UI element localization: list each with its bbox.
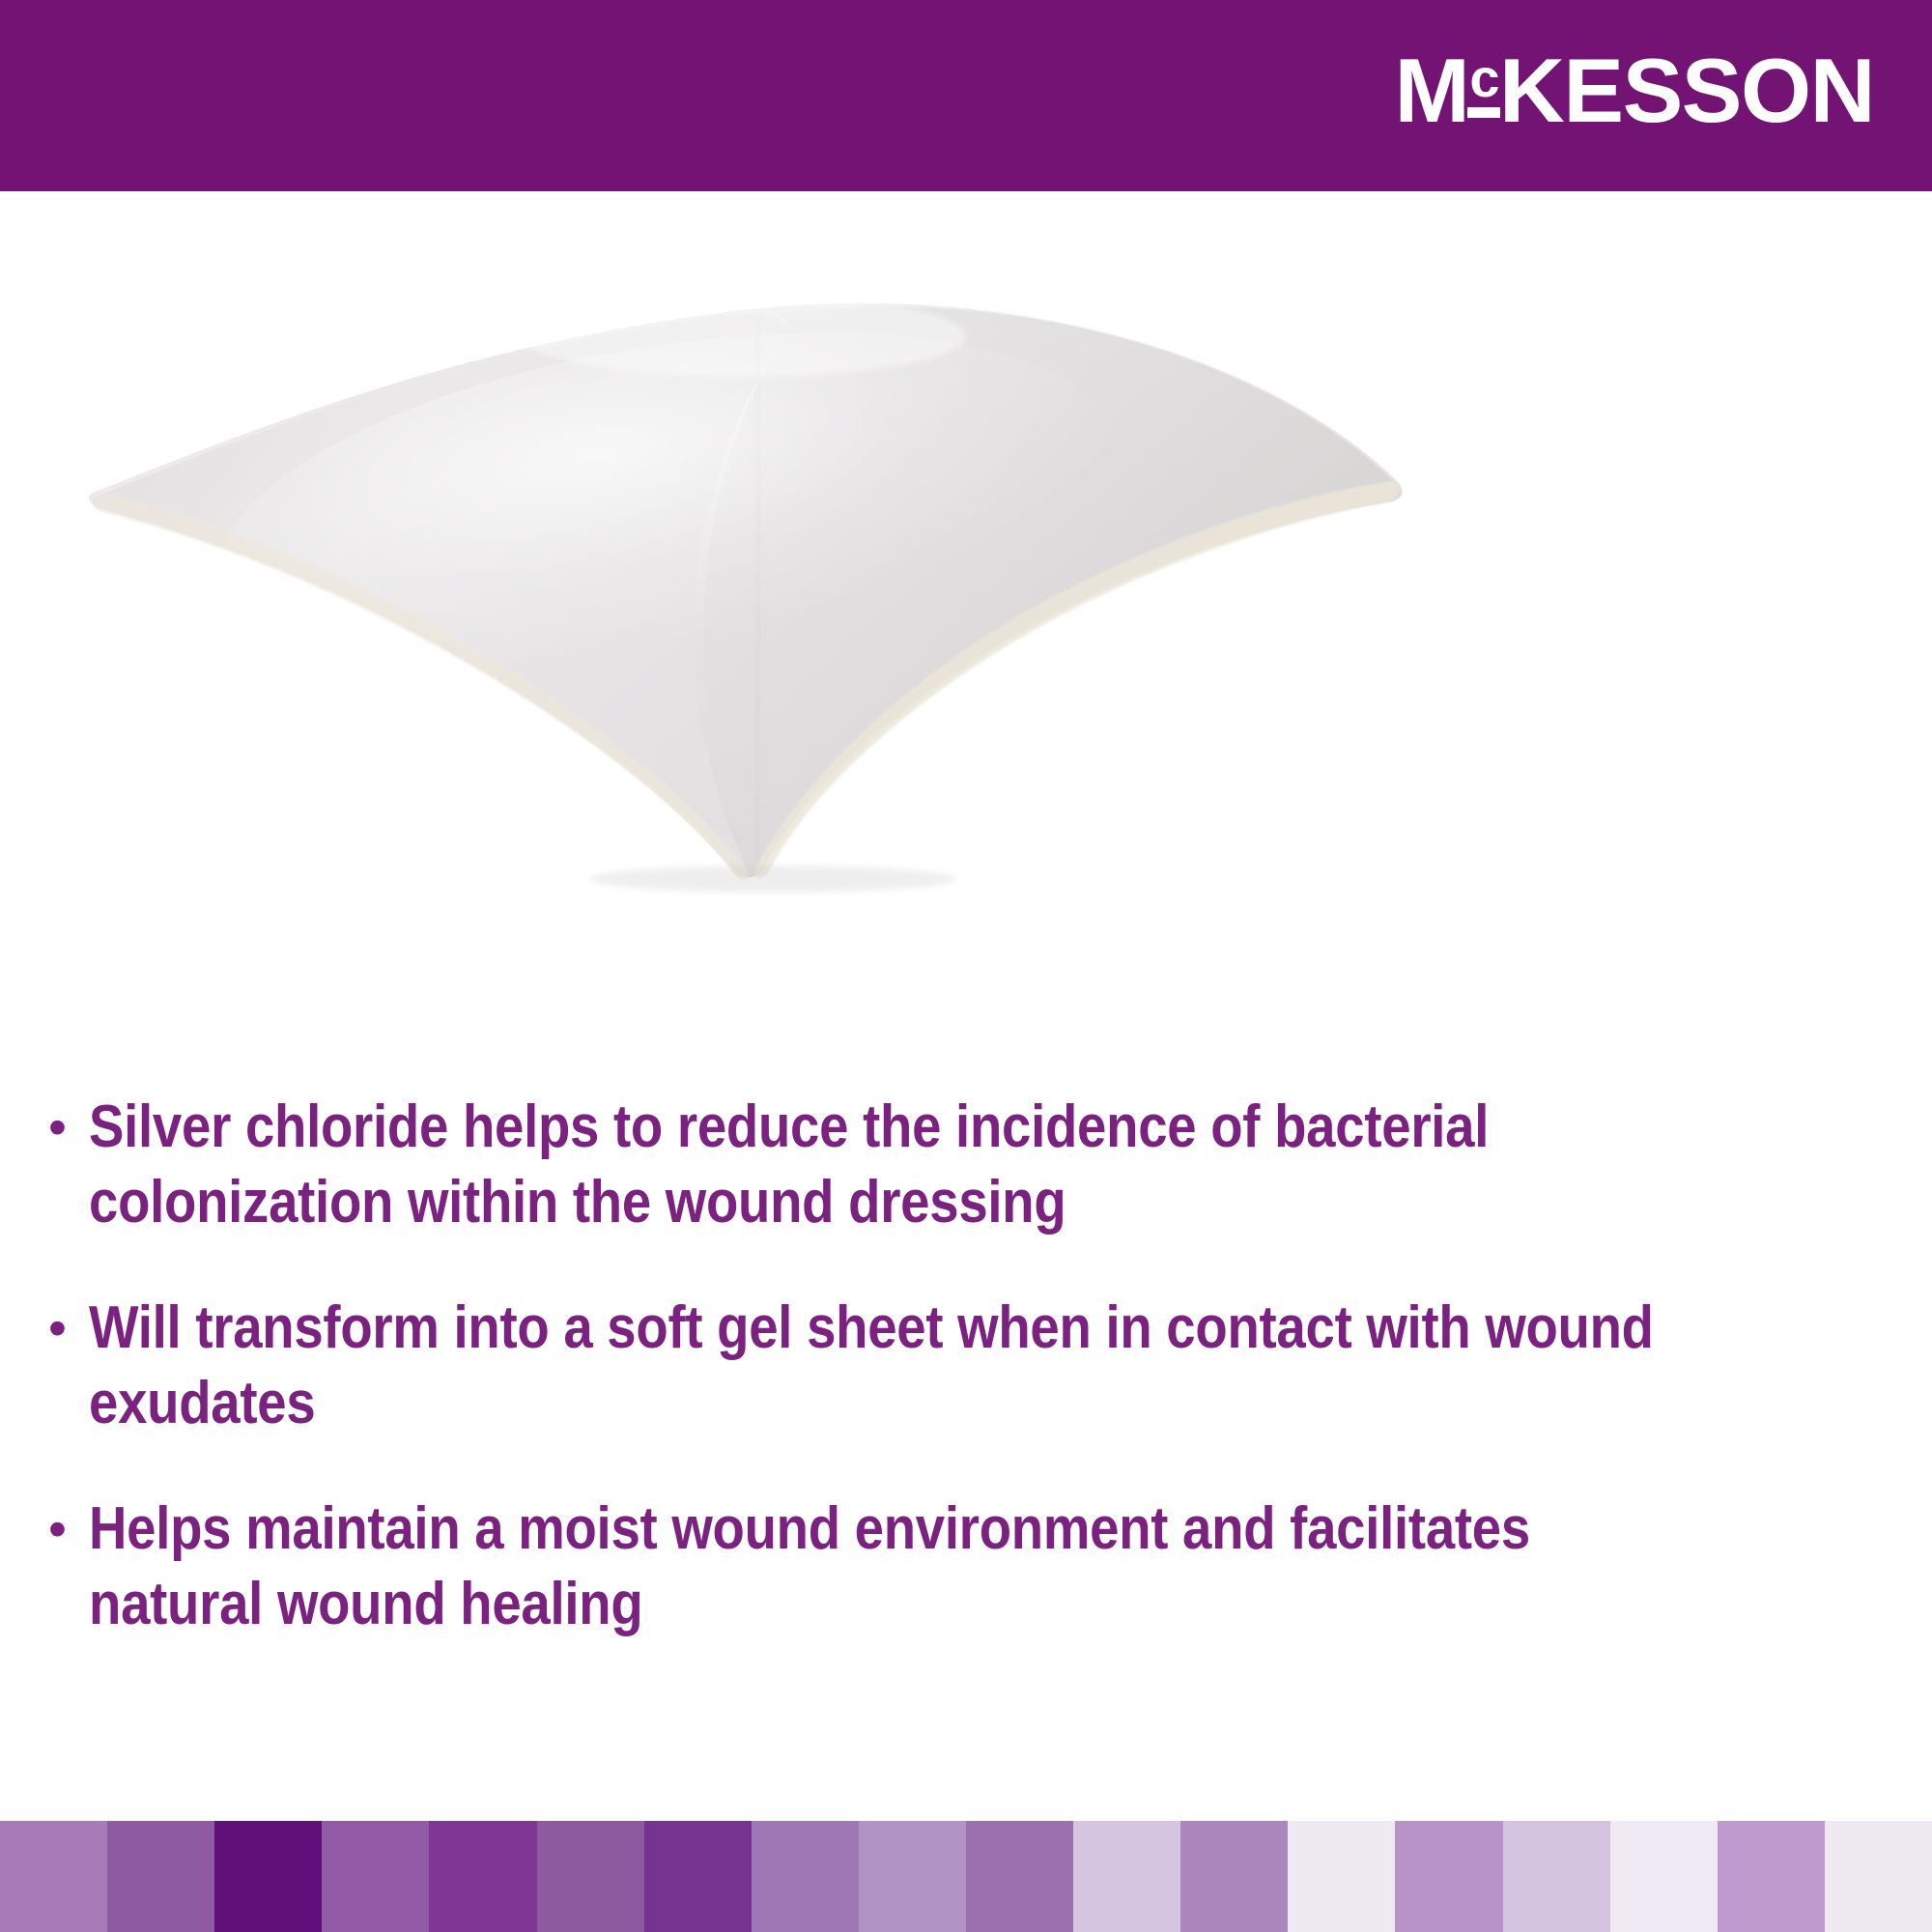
color-swatch-3 <box>214 1821 322 1932</box>
color-swatch-9 <box>859 1821 966 1932</box>
brand-letter-m: M <box>1395 43 1469 139</box>
color-swatch-2 <box>107 1821 214 1932</box>
color-swatch-13 <box>1288 1821 1395 1932</box>
brand-wordmark: McKESSON <box>1395 43 1874 139</box>
brand-letters-kesson: KESSON <box>1499 43 1874 139</box>
feature-bullet-list: • Silver chloride helps to reduce the in… <box>48 1090 1903 1692</box>
feature-text: Will transform into a soft gel sheet whe… <box>89 1291 1686 1441</box>
bullet-dot-icon: • <box>48 1492 89 1567</box>
color-swatch-10 <box>966 1821 1073 1932</box>
feature-text: Helps maintain a moist wound environment… <box>89 1492 1686 1642</box>
color-swatch-8 <box>752 1821 859 1932</box>
brand-header-bar: McKESSON <box>0 0 1932 191</box>
list-item: • Will transform into a soft gel sheet w… <box>48 1291 1903 1441</box>
color-swatch-18 <box>1825 1821 1932 1932</box>
color-swatch-4 <box>322 1821 429 1932</box>
brand-color-swatch-strip <box>0 1821 1932 1932</box>
feature-text: Silver chloride helps to reduce the inci… <box>89 1090 1686 1240</box>
list-item: • Silver chloride helps to reduce the in… <box>48 1090 1903 1240</box>
color-swatch-7 <box>644 1821 752 1932</box>
color-swatch-11 <box>1073 1821 1180 1932</box>
product-feature-slide: McKESSON <box>0 0 1932 1932</box>
wound-dressing-pad-illustration <box>0 191 1932 1080</box>
color-swatch-12 <box>1180 1821 1288 1932</box>
bullet-dot-icon: • <box>48 1291 89 1366</box>
list-item: • Helps maintain a moist wound environme… <box>48 1492 1903 1642</box>
color-swatch-5 <box>429 1821 536 1932</box>
bullet-dot-icon: • <box>48 1090 89 1165</box>
product-image-area <box>0 191 1932 1080</box>
color-swatch-16 <box>1610 1821 1718 1932</box>
color-swatch-6 <box>537 1821 644 1932</box>
color-swatch-14 <box>1395 1821 1502 1932</box>
color-swatch-15 <box>1503 1821 1610 1932</box>
mckesson-logo: McKESSON <box>1395 43 1874 139</box>
brand-superscript-c: c <box>1469 51 1498 105</box>
color-swatch-1 <box>0 1821 107 1932</box>
color-swatch-17 <box>1718 1821 1825 1932</box>
